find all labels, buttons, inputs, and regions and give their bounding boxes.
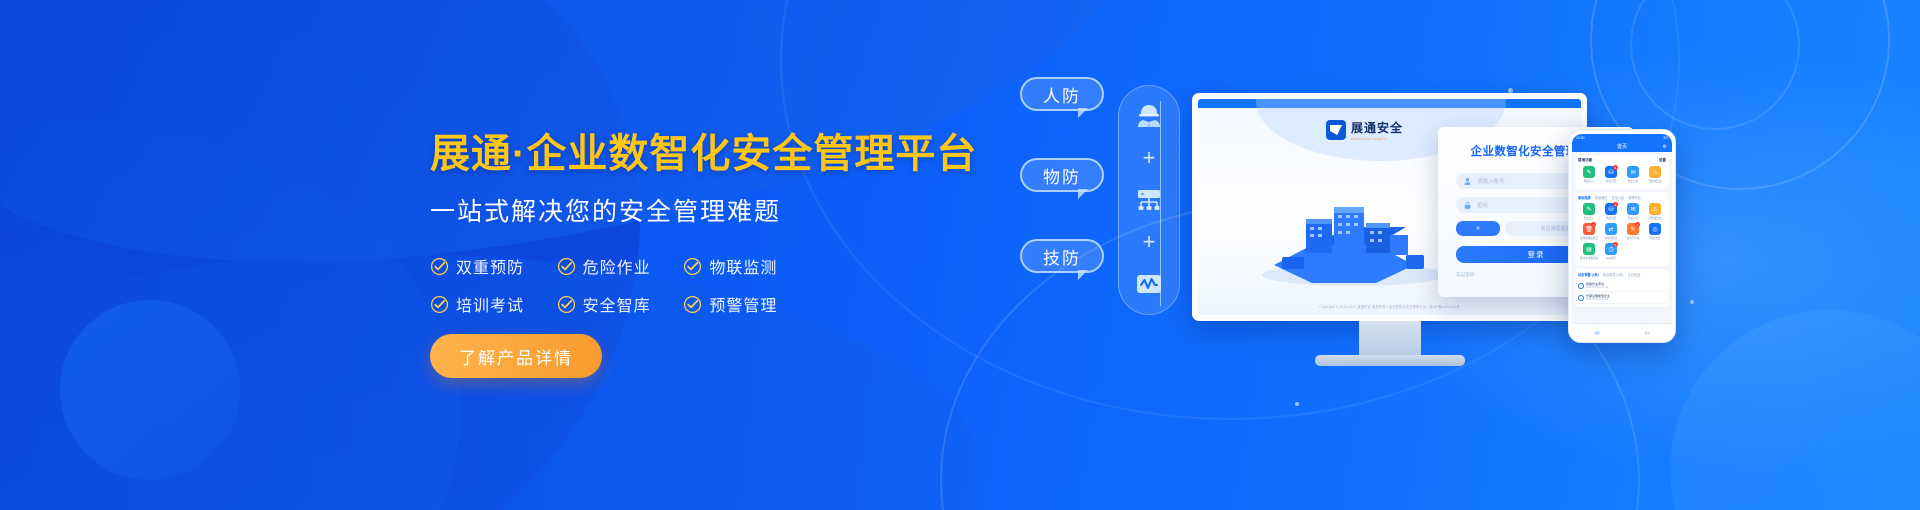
tab-profile[interactable]: ☺ 我的 — [1622, 324, 1672, 338]
feature-label: 预警管理 — [709, 292, 777, 316]
notification-badge: 4 — [1613, 165, 1618, 170]
pillar-label-text: 技防 — [1043, 244, 1081, 269]
pillar-icon-rail: + + — [1118, 85, 1180, 315]
edit-icon: ✎ — [1583, 166, 1595, 178]
worker-helmet-icon — [1132, 100, 1166, 132]
dynamic-alerts-card: 动态预警 (3条) 待办事项 (3条) 今日动态 特殊作业申请 2024-05-… — [1575, 269, 1669, 307]
section-title: 常用功能 — [1578, 158, 1592, 163]
forgot-password-link[interactable]: 忘记密码 — [1456, 272, 1474, 278]
feature-item-peixunkaoshi: 培训考试 — [430, 292, 557, 316]
username-placeholder: 请输入账号 — [1477, 177, 1505, 185]
app-tile[interactable]: ◎ 隐患台账 — [1644, 223, 1666, 240]
pillar-separator-plus-2: + — [1143, 231, 1156, 253]
check-circle-icon — [683, 257, 702, 276]
tab-jinri[interactable]: 今日动态 — [1627, 272, 1640, 277]
background-circle-a — [60, 300, 240, 480]
check-circle-icon — [557, 295, 576, 314]
notification-badge: 2 — [1635, 222, 1640, 227]
phone-screen: 13:50 5G 首页 ⚙ 常用功能 设置 — [1572, 134, 1672, 338]
common-functions-card: 常用功能 设置 ✎ 隐患录入 4 ⛁ 隐患分配 — [1575, 155, 1669, 189]
pillar-label-renfang[interactable]: 人防 — [1020, 77, 1104, 111]
status-time: 13:50 — [1576, 136, 1585, 140]
notification-badge: 4 — [1613, 202, 1618, 207]
page-title: 展通·企业数智化安全管理平台 — [430, 132, 990, 176]
phone-status-bar: 13:50 5G — [1572, 134, 1672, 141]
phone-nav-bar: 首页 ⚙ — [1572, 141, 1672, 152]
common-functions-header: 常用功能 设置 — [1578, 158, 1666, 163]
screen-footer-text: Copyright © 2015-2024 展通安全 版权所有 | 企业数智化安… — [1198, 304, 1581, 309]
app-tile-label: 隐患记录 — [1622, 216, 1644, 220]
edit-icon: ✎ — [1583, 203, 1595, 215]
feature-label: 物联监测 — [709, 254, 777, 278]
page-subtitle: 一站式解决您的安全管理难题 — [430, 192, 990, 228]
app-tile-label: 隐患录入 — [1578, 179, 1600, 183]
section-action[interactable]: 设置 — [1659, 158, 1666, 163]
phone-tab-bar: ⌂ 首页 ☺ 我的 — [1572, 323, 1672, 338]
incident-grid: ✎ 隐患录入 4 ⛁ 隐患分配 ✉ 隐患记录 — [1578, 203, 1666, 263]
mobile-phone-mockup: 13:50 5G 首页 ⚙ 常用功能 设置 — [1568, 129, 1676, 343]
learn-more-button[interactable]: 了解产品详情 — [430, 334, 602, 378]
app-tile-label: past任务 — [1600, 256, 1622, 260]
list-item-time: 2024-05-08 11:40:15 — [1586, 298, 1666, 301]
status-dot-icon — [1578, 283, 1584, 289]
record-icon: ✉ — [1627, 166, 1639, 178]
feature-item-anquanzhiku: 安全智库 — [557, 292, 684, 316]
app-tile-label: 待整改隐患 — [1644, 179, 1666, 183]
lock-icon — [1463, 201, 1472, 210]
feature-row-1: 双重预防 危险作业 物联监测 — [430, 254, 810, 278]
warning-icon: ⚠ — [1649, 166, 1661, 178]
tab-shigu-yinhuan[interactable]: 事故隐患 — [1578, 195, 1591, 200]
hero-copy: 展通·企业数智化安全管理平台 一站式解决您的安全管理难题 双重预防 危险作业 — [430, 132, 990, 378]
feature-item-yujingguanli: 预警管理 — [683, 292, 810, 316]
hero-banner: 展通·企业数智化安全管理平台 一站式解决您的安全管理难题 双重预防 危险作业 — [0, 0, 1920, 510]
gear-icon[interactable]: ⚙ — [1663, 144, 1667, 150]
network-device-icon — [1132, 184, 1166, 216]
feature-label: 培训考试 — [456, 292, 524, 316]
app-tile[interactable]: 2 ✎ 复查不合格 — [1622, 223, 1644, 240]
check-circle-icon — [557, 257, 576, 276]
phone-nav-title: 首页 — [1617, 143, 1627, 150]
app-tile-label: 隐患台账 — [1644, 236, 1666, 240]
user-icon — [1463, 177, 1472, 186]
notification-badge: 6 — [1613, 242, 1618, 247]
app-tile-label: 处理未整改隐患 — [1578, 236, 1600, 240]
tab-home[interactable]: ⌂ 首页 — [1572, 324, 1622, 338]
app-tile[interactable]: ⇄ 待复查隐患 — [1600, 223, 1622, 240]
warning-icon: ⚠ — [1649, 203, 1661, 215]
app-tile[interactable]: 3 🗑 处理未整改隐患 — [1578, 223, 1600, 240]
app-tile[interactable]: ▤ 整改单签收回执 — [1578, 243, 1600, 260]
app-tile-label: 隐患记录 — [1622, 179, 1644, 183]
tab-teshu[interactable]: 特殊作业 — [1628, 195, 1641, 200]
feature-label: 安全智库 — [583, 292, 651, 316]
status-dot-icon — [1578, 295, 1584, 301]
pillar-label-jifang[interactable]: 技防 — [1020, 239, 1104, 273]
incident-tabs: 事故隐患 风险管控 安全公告 特殊作业 — [1578, 195, 1666, 200]
app-tile[interactable]: 6 ◷ past任务 — [1600, 243, 1622, 260]
record-icon: ✉ — [1627, 203, 1639, 215]
pillar-label-text: 物防 — [1043, 163, 1081, 188]
feature-item-weixianzuoye: 危险作业 — [557, 254, 684, 278]
pillar-label-text: 人防 — [1043, 82, 1081, 107]
app-tile[interactable]: ✉ 隐患记录 — [1622, 203, 1644, 220]
check-circle-icon — [683, 295, 702, 314]
app-tile[interactable]: ⚠ 待整改隐患 — [1644, 203, 1666, 220]
logo-mark-icon — [1326, 120, 1346, 140]
ledger-icon: ◎ — [1649, 223, 1661, 235]
app-tile-label: 隐患分配 — [1600, 179, 1622, 183]
product-logo: 展通安全 ZHANTONG SAFETY — [1326, 119, 1403, 141]
tab-dongtai-yujing[interactable]: 动态预警 (3条) — [1578, 272, 1599, 277]
feature-row-2: 培训考试 安全智库 预警管理 — [430, 292, 810, 316]
feature-label: 危险作业 — [583, 254, 651, 278]
logo-text-group: 展通安全 ZHANTONG SAFETY — [1351, 119, 1403, 141]
receipt-icon: ▤ — [1583, 243, 1595, 255]
app-tile-label: 隐患录入 — [1578, 216, 1600, 220]
phone-content: 常用功能 设置 ✎ 隐患录入 4 ⛁ 隐患分配 — [1572, 152, 1672, 323]
monitor-stand-neck — [1359, 321, 1421, 355]
feature-label: 双重预防 — [456, 254, 524, 278]
app-tile[interactable]: ✎ 隐患录入 — [1578, 166, 1600, 183]
app-tile-label: 待整改隐患 — [1644, 216, 1666, 220]
list-item[interactable]: 长期证明类型企业 2024-05-08 11:40:15 — [1578, 292, 1666, 304]
review-icon: ⇄ — [1605, 223, 1617, 235]
app-tile[interactable]: 4 ⛁ 隐患分配 — [1600, 203, 1622, 220]
list-item-text: 长期证明类型企业 2024-05-08 11:40:15 — [1586, 294, 1666, 301]
background-wave-left-2 — [0, 120, 460, 510]
app-tile[interactable]: ⚠ 待整改隐患 — [1644, 166, 1666, 183]
check-circle-icon — [430, 257, 449, 276]
logo-name: 展通安全 — [1351, 121, 1403, 135]
check-circle-icon — [430, 295, 449, 314]
app-tile[interactable]: ✎ 隐患录入 — [1578, 203, 1600, 220]
app-tile-label: 隐患分配 — [1600, 216, 1622, 220]
user-icon: ☺ — [1646, 327, 1649, 330]
captcha-handle[interactable]: » — [1456, 221, 1500, 236]
list-item-text: 特殊作业申请 2024-05-08 11:42:18 — [1586, 282, 1666, 289]
app-tile[interactable]: ✉ 隐患记录 — [1622, 166, 1644, 183]
list-item-time: 2024-05-08 11:42:18 — [1586, 286, 1666, 289]
incident-hazard-card: 事故隐患 风险管控 安全公告 特殊作业 ✎ 隐患录入 4 — [1575, 192, 1669, 266]
password-placeholder: 密码 — [1477, 201, 1488, 209]
tab-profile-label: 我的 — [1644, 331, 1649, 335]
tab-daiban[interactable]: 待办事项 (3条) — [1603, 272, 1624, 277]
app-tile-label: 整改单签收回执 — [1578, 256, 1600, 260]
alerts-tabs: 动态预警 (3条) 待办事项 (3条) 今日动态 — [1578, 272, 1666, 277]
app-tile-label: 复查不合格 — [1622, 236, 1644, 240]
status-signal: 5G — [1663, 136, 1668, 140]
logo-tagline: ZHANTONG SAFETY — [1351, 137, 1403, 141]
tab-fengxian[interactable]: 风险管控 — [1595, 195, 1608, 200]
tab-gonggao[interactable]: 安全公告 — [1612, 195, 1625, 200]
city-illustration — [1254, 195, 1454, 287]
monitor-stand-base — [1315, 355, 1465, 366]
pillar-label-wufang[interactable]: 物防 — [1020, 158, 1104, 192]
app-tile-label: 待复查隐患 — [1600, 236, 1622, 240]
home-icon: ⌂ — [1596, 327, 1598, 330]
common-functions-grid: ✎ 隐患录入 4 ⛁ 隐患分配 ✉ 隐患记录 — [1578, 166, 1666, 186]
tab-home-label: 首页 — [1594, 331, 1599, 335]
app-tile[interactable]: 4 ⛁ 隐患分配 — [1600, 166, 1622, 183]
product-illustration: 人防 物防 技防 + — [1020, 55, 1900, 475]
pillar-separator-plus-1: + — [1143, 147, 1156, 169]
signal-wave-icon — [1132, 268, 1166, 300]
notification-badge: 3 — [1591, 222, 1596, 227]
feature-item-wulianjiance: 物联监测 — [683, 254, 810, 278]
list-item[interactable]: 特殊作业申请 2024-05-08 11:42:18 — [1578, 280, 1666, 292]
feature-item-shuangzhongyufang: 双重预防 — [430, 254, 557, 278]
feature-list: 双重预防 危险作业 物联监测 — [430, 254, 810, 316]
